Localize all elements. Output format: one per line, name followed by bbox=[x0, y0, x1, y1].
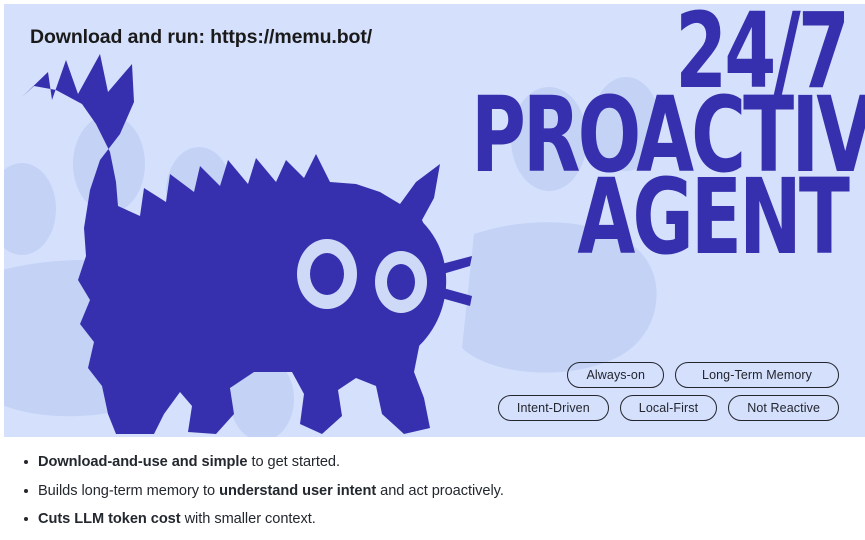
bullet-2-bold: understand user intent bbox=[219, 483, 376, 499]
page-root: 24/7 PROACTIVE AGENT bbox=[0, 0, 865, 540]
list-item: Cuts LLM token cost with smaller context… bbox=[38, 505, 858, 534]
headline-line-3: AGENT bbox=[471, 176, 847, 258]
tag-always-on[interactable]: Always-on bbox=[567, 362, 664, 388]
bullet-1-bold: Download-and-use and simple bbox=[38, 454, 247, 470]
bullet-2-rest: and act proactively. bbox=[376, 483, 504, 499]
headline-line-2: PROACTIVE bbox=[471, 94, 847, 176]
bullet-3-bold: Cuts LLM token cost bbox=[38, 511, 181, 527]
cat-eye-right-icon bbox=[375, 251, 427, 313]
cat-eye-left-icon bbox=[297, 239, 357, 309]
tag-intent-driven[interactable]: Intent-Driven bbox=[498, 395, 609, 421]
bullet-1-rest: to get started. bbox=[247, 454, 340, 470]
tag-row-1: Always-on Long-Term Memory bbox=[567, 362, 839, 388]
headline-line-1: 24/7 bbox=[471, 10, 847, 92]
list-item: Builds long-term memory to understand us… bbox=[38, 477, 858, 506]
hero-banner: 24/7 PROACTIVE AGENT bbox=[4, 4, 865, 437]
tag-long-term-memory[interactable]: Long-Term Memory bbox=[675, 362, 839, 388]
tag-local-first[interactable]: Local-First bbox=[620, 395, 717, 421]
feature-tag-group: Always-on Long-Term Memory Intent-Driven… bbox=[498, 362, 839, 421]
bullet-2-prefix: Builds long-term memory to bbox=[38, 483, 219, 499]
cat-illustration bbox=[4, 42, 474, 437]
feature-bullet-list: Download-and-use and simple to get start… bbox=[4, 448, 858, 534]
list-item: Download-and-use and simple to get start… bbox=[38, 448, 858, 477]
cat-body-icon bbox=[22, 54, 472, 434]
tag-not-reactive[interactable]: Not Reactive bbox=[728, 395, 839, 421]
tag-row-2: Intent-Driven Local-First Not Reactive bbox=[498, 395, 839, 421]
download-and-run-text: Download and run: https://memu.bot/ bbox=[30, 26, 372, 49]
bullet-3-rest: with smaller context. bbox=[181, 511, 316, 527]
